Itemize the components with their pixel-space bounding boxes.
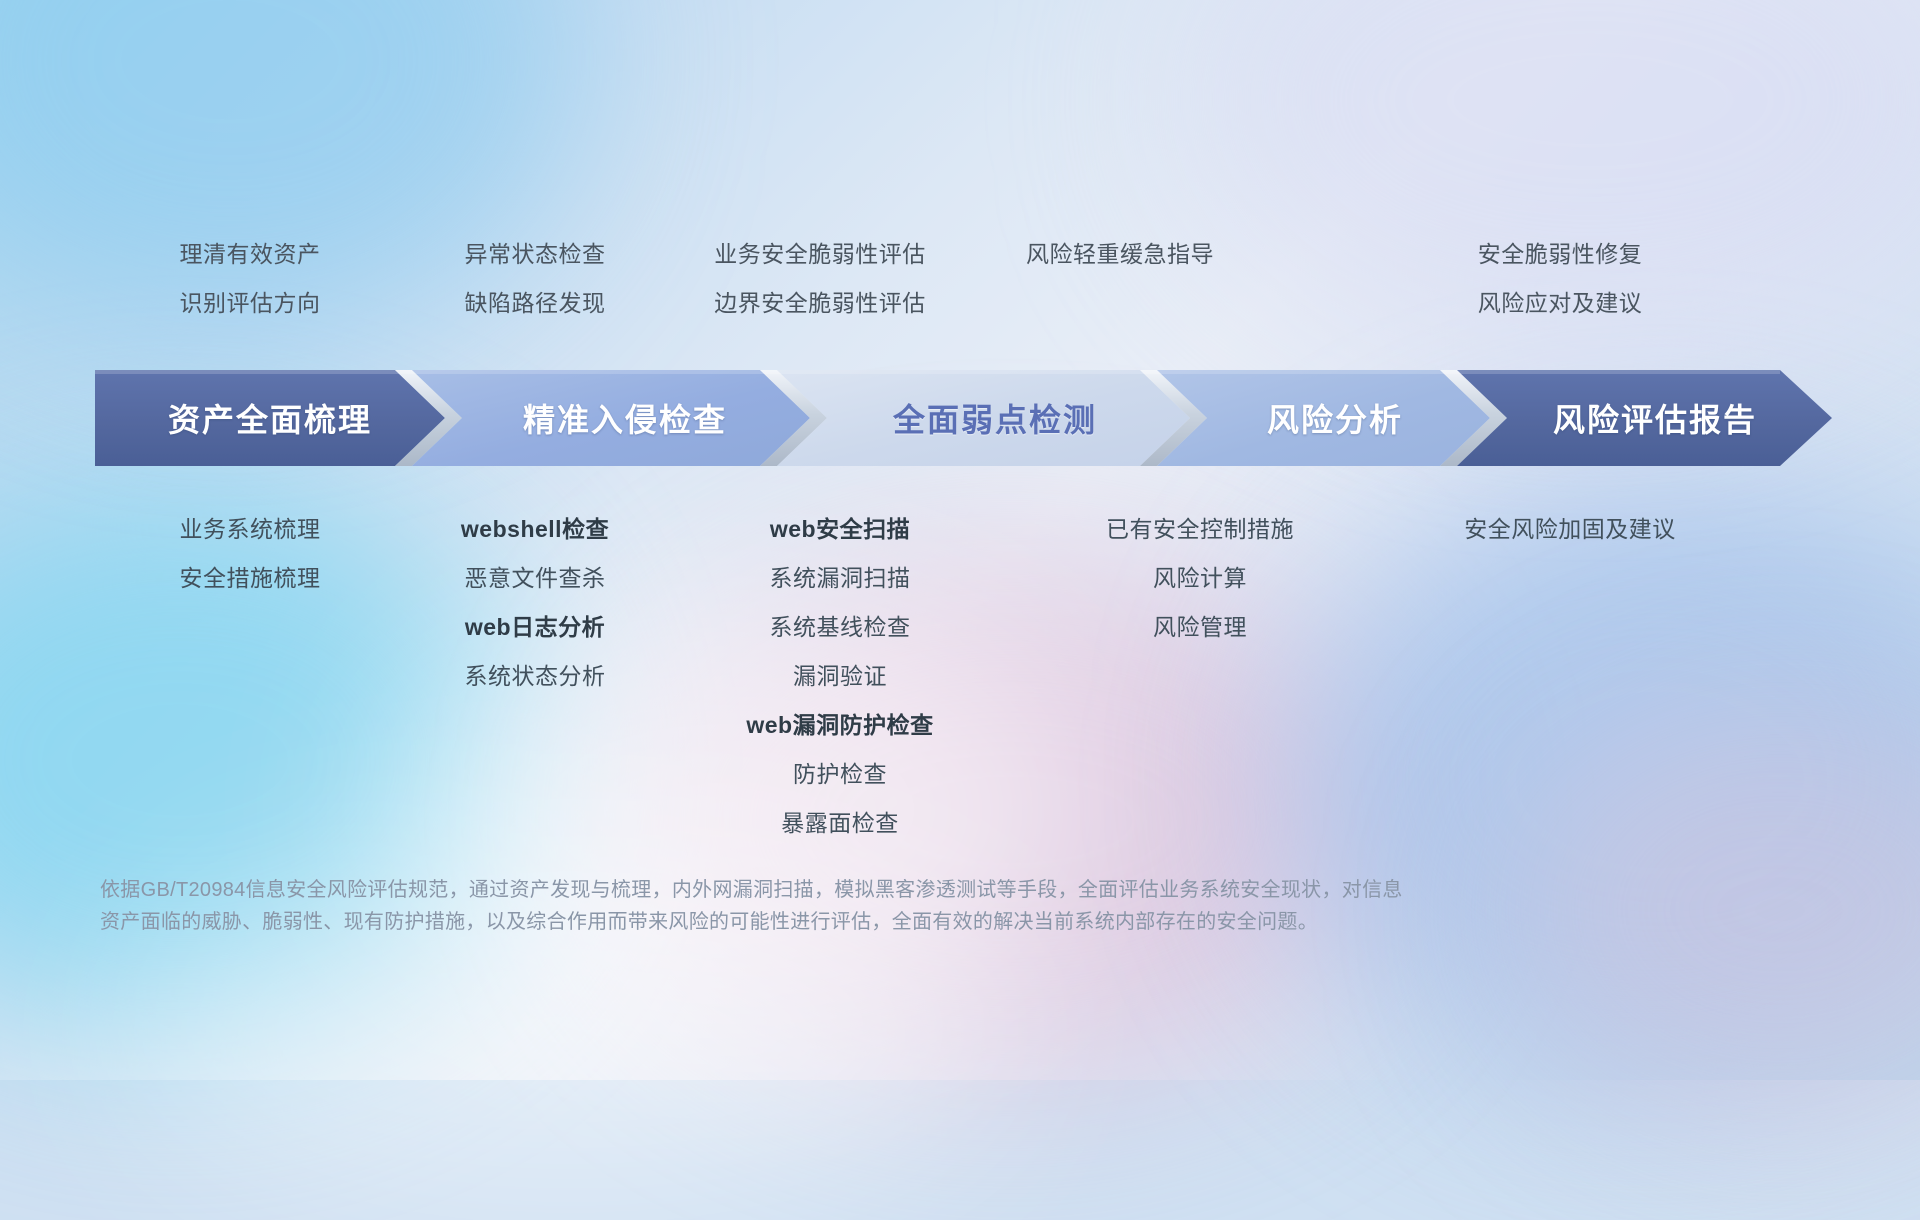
top-item: 理清有效资产 xyxy=(105,230,395,279)
list-item: 系统状态分析 xyxy=(390,652,680,701)
caption-block: 依据GB/T20984信息安全风险评估规范，通过资产发现与梳理，内外网漏洞扫描，… xyxy=(100,874,1660,938)
bottom-items-intrusion-check: webshell检查 恶意文件查杀 web日志分析 系统状态分析 xyxy=(390,505,680,701)
bottom-items-risk-analysis: 已有安全控制措施 风险计算 风险管理 xyxy=(1020,505,1380,652)
list-item: 已有安全控制措施 xyxy=(1020,505,1380,554)
chevron-shape-risk-report xyxy=(1457,370,1832,466)
top-items-asset-sorting: 理清有效资产 识别评估方向 xyxy=(105,230,395,328)
top-item: 安全脆弱性修复 xyxy=(1410,230,1710,279)
list-item: 风险管理 xyxy=(1020,603,1380,652)
chevron-shape-weakness-detection xyxy=(777,370,1190,466)
list-item: 安全措施梳理 xyxy=(105,554,395,603)
list-item: web安全扫描 xyxy=(650,505,1030,554)
list-item: 安全风险加固及建议 xyxy=(1380,505,1760,554)
top-items-risk-report: 安全脆弱性修复 风险应对及建议 xyxy=(1410,230,1710,328)
bottom-items-asset-sorting: 业务系统梳理 安全措施梳理 xyxy=(105,505,395,603)
caption-line-1: 依据GB/T20984信息安全风险评估规范，通过资产发现与梳理，内外网漏洞扫描，… xyxy=(100,874,1660,906)
top-item: 边界安全脆弱性评估 xyxy=(630,279,1010,328)
caption-line-2: 资产面临的威胁、脆弱性、现有防护措施，以及综合作用而带来风险的可能性进行评估，全… xyxy=(100,906,1660,938)
list-item: web漏洞防护检查 xyxy=(650,701,1030,750)
chevron-shape-asset-sorting xyxy=(95,370,445,466)
top-descriptor-row: 理清有效资产 识别评估方向 异常状态检查 缺陷路径发现 业务安全脆弱性评估 边界… xyxy=(0,230,1920,340)
list-item: 系统漏洞扫描 xyxy=(650,554,1030,603)
list-item: webshell检查 xyxy=(390,505,680,554)
list-item: 系统基线检查 xyxy=(650,603,1030,652)
chevron-shape-intrusion-check xyxy=(412,370,810,466)
list-item: 暴露面检查 xyxy=(650,799,1030,848)
list-item: web日志分析 xyxy=(390,603,680,652)
list-item: 业务系统梳理 xyxy=(105,505,395,554)
list-item: 防护检查 xyxy=(650,750,1030,799)
list-item: 漏洞验证 xyxy=(650,652,1030,701)
top-item: 风险轻重缓急指导 xyxy=(930,230,1310,279)
bottom-items-risk-report: 安全风险加固及建议 xyxy=(1380,505,1760,554)
top-item: 识别评估方向 xyxy=(105,279,395,328)
list-item: 恶意文件查杀 xyxy=(390,554,680,603)
process-arrow-band: 资产全面梳理 精准入侵检查 全面弱点检测 风险分析 风险评估报告 xyxy=(0,368,1920,468)
band-top-highlight xyxy=(95,370,1780,374)
bottom-items-weakness-detection: web安全扫描 系统漏洞扫描 系统基线检查 漏洞验证 web漏洞防护检查 防护检… xyxy=(650,505,1030,848)
list-item: 风险计算 xyxy=(1020,554,1380,603)
top-items-risk-analysis: 风险轻重缓急指导 xyxy=(930,230,1310,279)
top-item: 风险应对及建议 xyxy=(1410,279,1710,328)
